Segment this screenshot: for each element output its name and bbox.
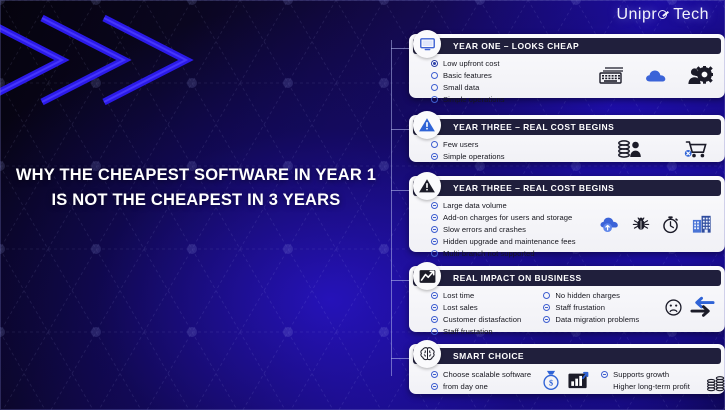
bullet-column-right: No hidden charges Staff frustation Data … <box>543 290 639 337</box>
bullet-minus-icon <box>431 292 438 299</box>
bullet-open-icon <box>431 72 438 79</box>
cards-panel: YEAR ONE – LOOKS CHEAP Low upfront cost … <box>388 26 725 410</box>
list-item[interactable]: Lost time <box>431 290 521 301</box>
bullet-minus-icon <box>431 153 438 160</box>
list-item-label: Slow errors and crashes <box>443 225 526 234</box>
list-item[interactable]: Basic features <box>431 70 505 81</box>
bullet-filled-icon <box>431 60 438 67</box>
svg-text:$: $ <box>549 379 553 388</box>
card-year-three-a[interactable]: YEAR THREE – REAL COST BEGINS Few users … <box>409 115 725 162</box>
list-item-label: Large data volume <box>443 201 507 210</box>
card-body: Large data volume Add-on charges for use… <box>409 196 725 264</box>
bullet-minus-icon <box>431 226 438 233</box>
list-item-label: Staff frustation <box>443 327 493 336</box>
bullet-minus-icon <box>543 304 550 311</box>
bullet-minus-icon <box>431 316 438 323</box>
money-bag-icon: $ <box>541 369 561 391</box>
chevron-arrows-graphic <box>0 4 240 129</box>
list-item[interactable]: Simple operations <box>431 151 505 162</box>
connector-stub <box>391 129 409 130</box>
bar-chart-growth-icon <box>567 370 589 390</box>
card-body: Few users Simple operations <box>409 135 725 167</box>
card-header: YEAR THREE – REAL COST BEGINS <box>413 180 721 196</box>
list-item[interactable]: Simple operations <box>431 94 505 105</box>
bullet-column: Large data volume Add-on charges for use… <box>431 200 576 259</box>
brand-name-part1: Unipr <box>616 6 657 24</box>
building-icon <box>691 214 713 234</box>
brain-icon <box>413 340 441 368</box>
list-item-label: No hidden charges <box>555 291 620 300</box>
card-mid-icons: $ <box>541 369 589 391</box>
list-item-label: Staff frustation <box>555 303 605 312</box>
card-year-one[interactable]: YEAR ONE – LOOKS CHEAP Low upfront cost … <box>409 34 725 98</box>
list-item-label: Customer distasfaction <box>443 315 521 324</box>
bug-icon <box>632 215 650 233</box>
list-item[interactable]: Low upfront cost <box>431 58 505 69</box>
stopwatch-icon <box>661 215 680 234</box>
card-body: Choose scalable software from day one $ <box>409 364 725 397</box>
bullet-minus-icon <box>601 371 608 378</box>
monitor-icon <box>413 30 441 58</box>
bullet-column: Low upfront cost Basic features Small da… <box>431 58 505 105</box>
warning-triangle-dark-icon <box>413 172 441 200</box>
connector-stub <box>391 190 409 191</box>
bullet-minus-icon <box>543 316 550 323</box>
cart-error-icon <box>683 139 709 159</box>
list-item-label: Basic features <box>443 71 492 80</box>
bullet-open-icon <box>431 328 438 335</box>
card-icons <box>664 296 715 318</box>
list-item[interactable]: Small data <box>431 82 505 93</box>
bullet-open-icon <box>431 141 438 148</box>
headline-line-2: IS NOT THE CHEAPEST IN 3 YEARS <box>0 188 392 213</box>
bullet-open-icon <box>431 250 438 257</box>
list-item[interactable]: Higher long-term profit <box>601 381 690 392</box>
list-item[interactable]: from day one <box>431 381 531 392</box>
bullet-minus-icon <box>431 214 438 221</box>
bullet-minus-icon <box>431 238 438 245</box>
list-item-label: Lost sales <box>443 303 478 312</box>
headline-line-1: WHY THE CHEAPEST SOFTWARE IN YEAR 1 <box>0 163 392 188</box>
bullet-column: Few users Simple operations <box>431 139 505 162</box>
list-item-label: Low upfront cost <box>443 59 500 68</box>
stylized-o-icon <box>658 10 667 19</box>
slide-canvas: UniprTech WHY THE CHEAPEST SOFTWARE IN Y… <box>0 0 725 410</box>
user-gear-icon <box>687 66 713 86</box>
list-item[interactable]: Lost sales <box>431 302 521 313</box>
card-header: REAL IMPACT ON BUSINESS <box>413 270 721 286</box>
list-item[interactable]: Customer distasfaction <box>431 314 521 325</box>
cloud-upload-icon <box>599 215 621 233</box>
list-item-label: Few users <box>443 140 478 149</box>
list-item-label: Hidden upgrade and maintenance fees <box>443 237 576 246</box>
card-title: SMART CHOICE <box>453 351 524 361</box>
bullet-column-left: Lost time Lost sales Customer distasfact… <box>431 290 521 337</box>
coin-stacks-growth-icon <box>706 368 725 392</box>
brand-logo: UniprTech <box>616 6 709 24</box>
list-item-label: Small data <box>443 83 479 92</box>
card-year-three-b[interactable]: YEAR THREE – REAL COST BEGINS Large data… <box>409 176 725 252</box>
list-item[interactable]: Multi-branch not supported <box>431 248 576 259</box>
bullet-minus-icon <box>431 202 438 209</box>
list-item-label: Add-on charges for users and storage <box>443 213 572 222</box>
bullet-open-icon <box>431 84 438 91</box>
card-icons <box>599 66 713 86</box>
list-item[interactable]: Large data volume <box>431 200 576 211</box>
list-item-label: Choose scalable software <box>443 370 531 379</box>
card-real-impact[interactable]: REAL IMPACT ON BUSINESS Lost time Lost s… <box>409 266 725 332</box>
list-item[interactable]: Slow errors and crashes <box>431 224 576 235</box>
database-user-icon <box>617 139 643 159</box>
connector-stub <box>391 358 409 359</box>
card-header: YEAR ONE – LOOKS CHEAP <box>413 38 721 54</box>
card-header: SMART CHOICE <box>413 348 721 364</box>
card-title: REAL IMPACT ON BUSINESS <box>453 273 582 283</box>
bullet-minus-icon <box>431 371 438 378</box>
keyboard-icon <box>599 66 625 86</box>
list-item[interactable]: No hidden charges <box>543 290 639 301</box>
page-title: WHY THE CHEAPEST SOFTWARE IN YEAR 1 IS N… <box>0 163 392 213</box>
card-body: Low upfront cost Basic features Small da… <box>409 54 725 110</box>
list-item[interactable]: Staff frustation <box>543 302 639 313</box>
bullet-column-left: Choose scalable software from day one <box>431 369 531 392</box>
card-smart-choice[interactable]: SMART CHOICE Choose scalable software fr… <box>409 344 725 394</box>
card-title: YEAR THREE – REAL COST BEGINS <box>453 122 614 132</box>
card-title: YEAR THREE – REAL COST BEGINS <box>453 183 614 193</box>
card-body: Lost time Lost sales Customer distasfact… <box>409 286 725 342</box>
connector-stub <box>391 48 409 49</box>
transfer-arrows-icon <box>690 296 715 318</box>
list-item[interactable]: Few users <box>431 139 505 150</box>
bullet-open-icon <box>543 292 550 299</box>
bullet-column-right: Supports growth Higher long-term profit <box>601 369 690 392</box>
list-item-label: Multi-branch not supported <box>443 249 535 258</box>
card-icons <box>706 368 725 392</box>
card-header: YEAR THREE – REAL COST BEGINS <box>413 119 721 135</box>
sad-face-icon <box>664 298 683 317</box>
bullet-none-icon <box>601 383 608 390</box>
list-item[interactable]: Data migration problems <box>543 314 639 325</box>
connector-stub <box>391 280 409 281</box>
brand-name-part2: Tech <box>673 6 709 24</box>
card-title: YEAR ONE – LOOKS CHEAP <box>453 41 579 51</box>
list-item[interactable]: Choose scalable software <box>431 369 531 380</box>
bullet-minus-icon <box>431 383 438 390</box>
card-icons <box>617 139 709 159</box>
list-item-label: Lost time <box>443 291 474 300</box>
card-icons <box>599 214 713 234</box>
list-item[interactable]: Staff frustation <box>431 326 521 337</box>
list-item-label: Simple operations <box>443 152 505 161</box>
bullet-minus-icon <box>431 304 438 311</box>
list-item-label: Data migration problems <box>555 315 639 324</box>
list-item[interactable]: Add-on charges for users and storage <box>431 212 576 223</box>
list-item[interactable]: Hidden upgrade and maintenance fees <box>431 236 576 247</box>
chart-decline-icon <box>413 262 441 290</box>
warning-triangle-blue-icon <box>413 111 441 139</box>
list-item[interactable]: Supports growth <box>601 369 690 380</box>
list-item-label: Supports growth <box>613 370 669 379</box>
list-item-label: Higher long-term profit <box>613 382 690 391</box>
list-item-label: from day one <box>443 382 488 391</box>
cloud-icon <box>645 68 667 84</box>
bullet-open-icon <box>431 96 438 103</box>
list-item-label: Simple operations <box>443 95 505 104</box>
